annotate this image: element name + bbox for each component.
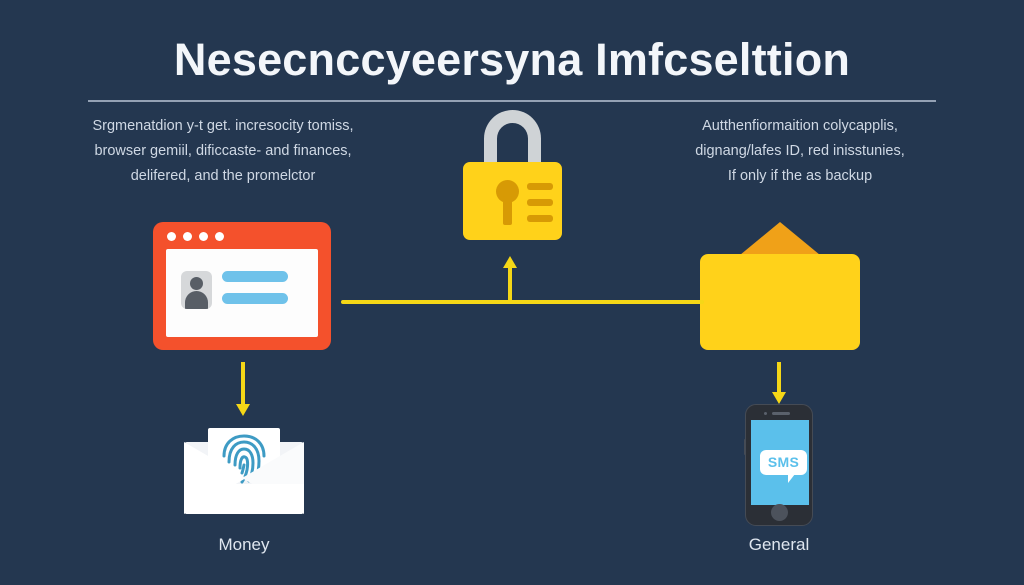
arrow-down-right-head xyxy=(772,392,786,404)
arrow-up-to-padlock-stem xyxy=(508,265,512,303)
arrow-down-left-head xyxy=(236,404,250,416)
phone-camera xyxy=(764,412,767,415)
avatar-torso xyxy=(185,291,208,309)
left-text-line-2: browser gemiil, dificcaste- and finances… xyxy=(68,139,378,164)
browser-dot-4 xyxy=(215,232,224,241)
browser-dot-2 xyxy=(183,232,192,241)
fp-envelope-bottom xyxy=(184,484,304,514)
padlock-icon xyxy=(455,110,570,240)
avatar-head xyxy=(190,277,203,290)
title-divider xyxy=(88,100,936,102)
arrow-down-to-general xyxy=(766,362,792,408)
browser-titlebar-dots xyxy=(167,232,224,241)
sms-bubble: SMS xyxy=(760,450,807,475)
browser-to-envelope-line xyxy=(341,300,704,304)
left-text-line-3: delifered, and the promelctor xyxy=(68,164,378,189)
right-text-line-2: dignang/lafes ID, red inisstunies, xyxy=(645,139,955,164)
arrow-up-to-padlock-head xyxy=(503,256,517,268)
browser-dot-3 xyxy=(199,232,208,241)
fingerprint-envelope-icon xyxy=(184,428,304,514)
padlock-bar-3 xyxy=(527,215,553,222)
arrow-down-right-stem xyxy=(777,362,781,394)
left-text-line-1: Srgmenatdion y-t get. incresocity tomiss… xyxy=(68,114,378,139)
padlock-keyhole-stem xyxy=(503,196,512,225)
browser-screen xyxy=(166,249,318,337)
phone-side-button xyxy=(744,439,746,455)
left-description-text: Srgmenatdion y-t get. incresocity tomiss… xyxy=(68,114,378,189)
browser-window-icon xyxy=(153,222,331,350)
phone-screen: SMS xyxy=(751,420,809,505)
page-title: Nesecnccyeersyna Imfcselttion xyxy=(0,34,1024,86)
phone-sms-icon: SMS xyxy=(745,404,813,526)
open-envelope-icon xyxy=(700,222,860,350)
avatar-icon xyxy=(181,271,212,309)
padlock-bar-2 xyxy=(527,199,553,206)
padlock-bar-1 xyxy=(527,183,553,190)
right-text-line-3: If only if the as backup xyxy=(645,164,955,189)
browser-field-bar-1 xyxy=(222,271,288,282)
label-general: General xyxy=(679,535,879,555)
right-description-text: Autthenfiormaition colycapplis, dignang/… xyxy=(645,114,955,189)
phone-home-button xyxy=(771,504,788,521)
arrow-down-to-money xyxy=(230,362,256,418)
browser-dot-1 xyxy=(167,232,176,241)
arrow-down-left-stem xyxy=(241,362,245,406)
diagram-canvas: Nesecnccyeersyna Imfcselttion Srgmenatdi… xyxy=(0,0,1024,585)
browser-field-bar-2 xyxy=(222,293,288,304)
right-text-line-1: Autthenfiormaition colycapplis, xyxy=(645,114,955,139)
envelope-body xyxy=(700,254,860,350)
label-money: Money xyxy=(144,535,344,555)
phone-speaker xyxy=(772,412,790,415)
